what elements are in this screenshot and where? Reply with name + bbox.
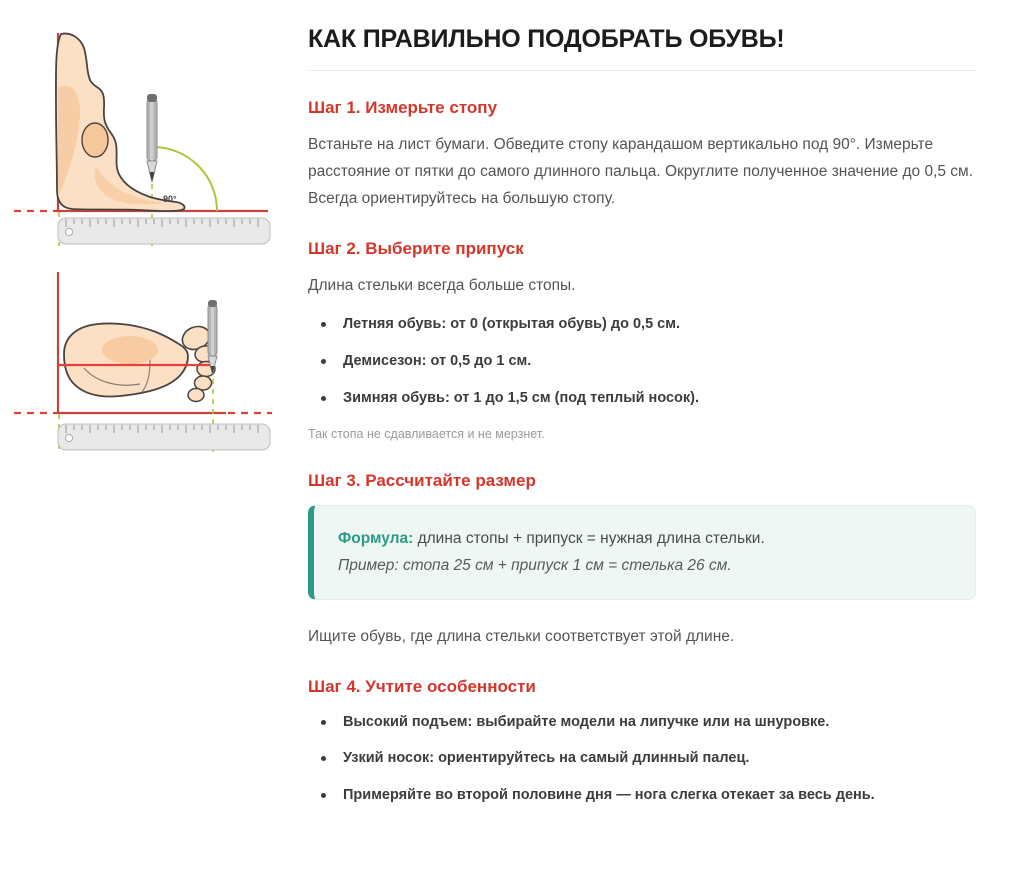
list-item: Узкий носок: ориентируйтесь на самый дли… [308,748,976,770]
foot-sole-view-svg [0,264,300,464]
step-2-heading: Шаг 2. Выберите припуск [308,238,976,259]
step-2-lead: Длина стельки всегда больше стопы. [308,273,976,300]
step-3-heading: Шаг 3. Рассчитайте размер [308,470,976,491]
ruler-icon [58,424,270,450]
step-block-4: Шаг 4. Учтите особенности Высокий подъем… [308,676,976,807]
pencil-icon [147,94,157,182]
step-block-2: Шаг 2. Выберите припуск Длина стельки вс… [308,238,976,444]
step-block-3: Шаг 3. Рассчитайте размер Формула: длина… [308,470,976,650]
title-divider [308,70,976,71]
step-block-1: Шаг 1. Измерьте стопу Встаньте на лист б… [308,97,976,212]
foot-side-view-svg: 90° [0,14,300,264]
allowance-list: Летняя обувь: от 0 (открытая обувь) до 0… [308,314,976,409]
formula-callout: Формула: длина стопы + припуск = нужная … [308,505,976,599]
angle-label: 90° [163,194,177,204]
list-item: Примеряйте во второй половине дня — нога… [308,785,976,807]
figure-foot-sole-view [0,264,300,464]
step-1-paragraph: Встаньте на лист бумаги. Обведите стопу … [308,132,976,212]
figure-foot-side-view: 90° [0,14,300,264]
guide-page: 90° [0,0,1024,873]
list-item: Летняя обувь: от 0 (открытая обувь) до 0… [308,314,976,336]
step-4-heading: Шаг 4. Учтите особенности [308,676,976,697]
list-item: Зимняя обувь: от 1 до 1,5 см (под теплый… [308,388,976,410]
list-item: Демисезон: от 0,5 до 1 см. [308,351,976,373]
formula-label: Формула: [338,530,413,547]
tips-list: Высокий подъем: выбирайте модели на липу… [308,712,976,807]
step-3-after-text: Ищите обувь, где длина стельки соответст… [308,624,976,651]
ruler-icon [58,218,270,244]
list-item: Высокий подъем: выбирайте модели на липу… [308,712,976,734]
sole-shading-icon [102,336,158,364]
illustration-column: 90° [0,0,300,464]
formula-text: длина стопы + припуск = нужная длина сте… [413,530,764,547]
content-column: КАК ПРАВИЛЬНО ПОДОБРАТЬ ОБУВЬ! Шаг 1. Из… [300,0,1000,819]
formula-line: Формула: длина стопы + припуск = нужная … [338,526,953,551]
step-2-note: Так стопа не сдавливается и не мерзнет. [308,425,976,444]
pencil-icon [208,300,217,374]
formula-example: Пример: стопа 25 см + припуск 1 см = сте… [338,553,953,578]
ankle-bone-icon [82,123,108,157]
page-title: КАК ПРАВИЛЬНО ПОДОБРАТЬ ОБУВЬ! [308,24,976,54]
step-1-heading: Шаг 1. Измерьте стопу [308,97,976,118]
